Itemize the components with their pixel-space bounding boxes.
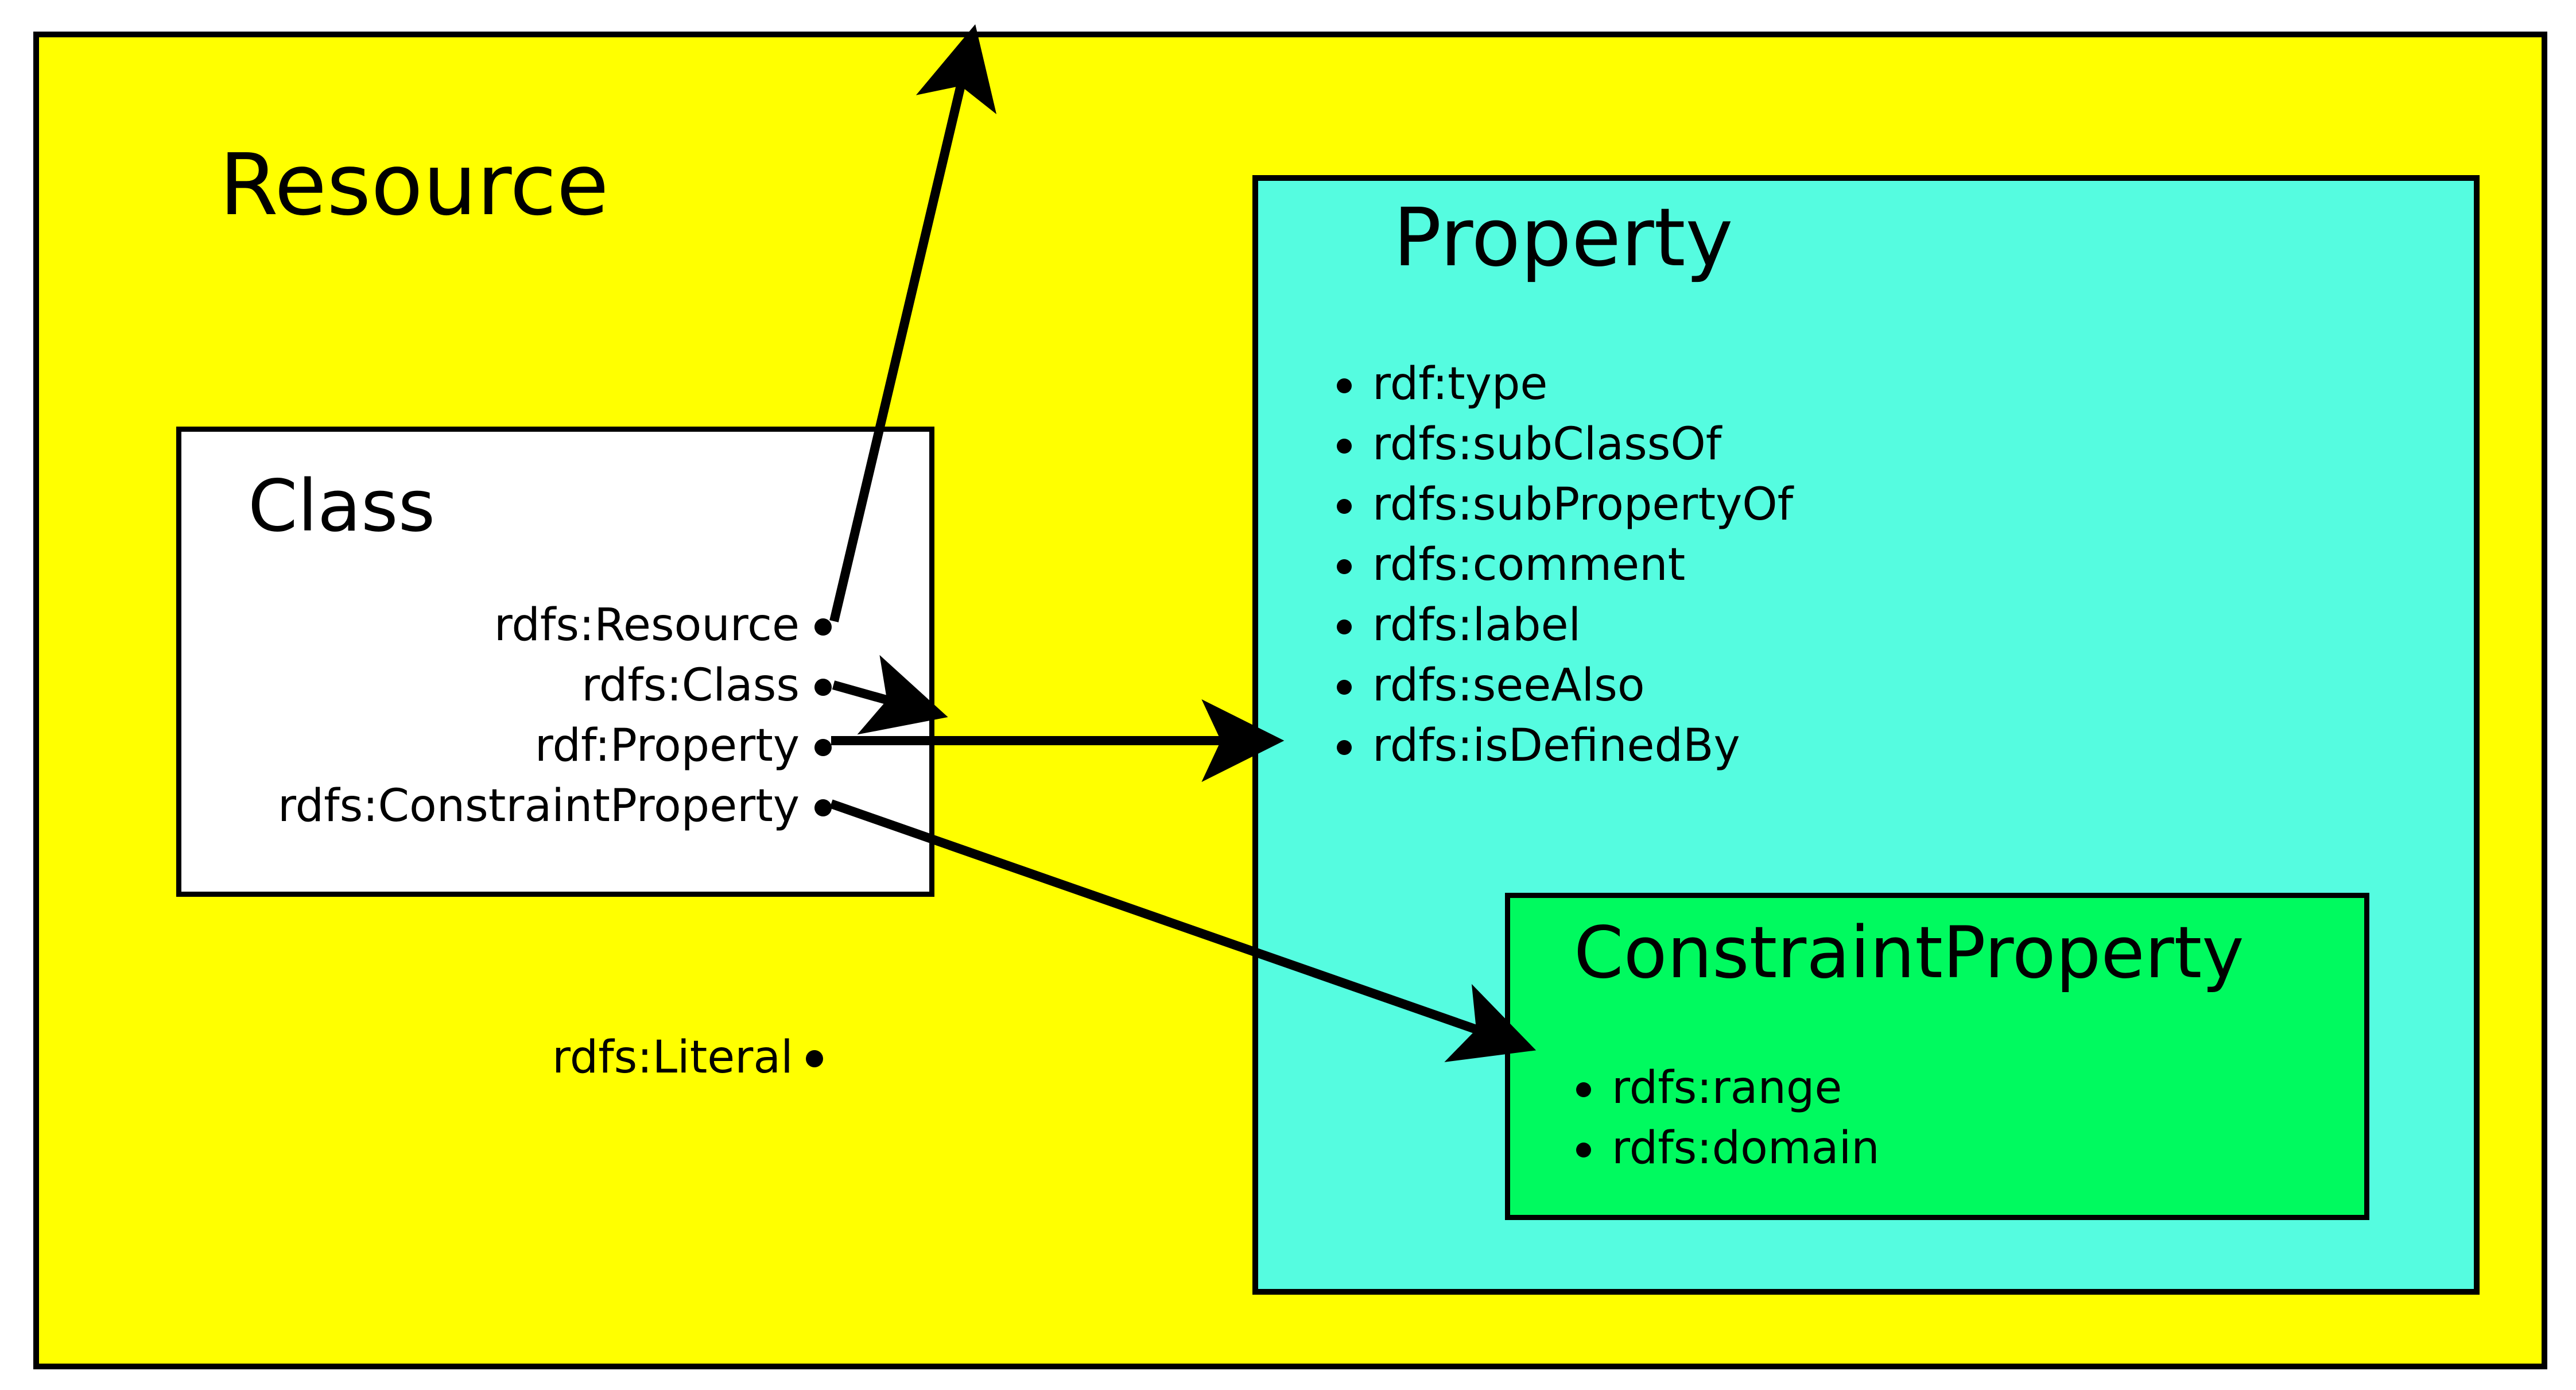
property-item-label: rdfs:seeAlso: [1372, 660, 1645, 711]
property-item-label: rdfs:subPropertyOf: [1372, 479, 1793, 531]
bullet-icon: [1337, 378, 1352, 393]
constraint-property-member-list: rdfs:range rdfs:domain: [1574, 1058, 1880, 1179]
connector-dot-icon: [814, 739, 832, 756]
property-item-label: rdfs:subClassOf: [1372, 419, 1721, 470]
list-item: rdfs:seeAlso: [1334, 656, 1793, 716]
connector-dot-icon: [814, 799, 832, 816]
class-item-label: rdfs:Class: [581, 660, 800, 711]
property-item-label: rdfs:isDefinedBy: [1372, 720, 1740, 772]
bullet-icon: [1337, 680, 1352, 695]
list-item: rdfs:isDefinedBy: [1334, 716, 1793, 776]
list-item: rdfs:subPropertyOf: [1334, 475, 1793, 535]
list-item: rdfs:subClassOf: [1334, 415, 1793, 475]
class-item-label: rdfs:ConstraintProperty: [278, 780, 800, 832]
property-box-title: Property: [1393, 198, 1733, 278]
class-item-label: rdfs:Resource: [494, 599, 800, 651]
connector-dot-icon: [814, 679, 832, 696]
resource-box-title: Resource: [219, 142, 609, 227]
list-item: rdfs:label: [1334, 595, 1793, 656]
bullet-icon: [1337, 620, 1352, 634]
property-item-label: rdfs:label: [1372, 599, 1581, 651]
list-item: rdfs:Class: [218, 656, 835, 716]
literal-label-text: rdfs:Literal: [552, 1032, 793, 1083]
property-member-list: rdf:type rdfs:subClassOf rdfs:subPropert…: [1334, 354, 1793, 776]
diagram-canvas: Resource Class Property ConstraintProper…: [0, 0, 2576, 1390]
bullet-icon: [1337, 439, 1352, 454]
list-item: rdf:Property: [218, 716, 835, 776]
list-item: rdfs:comment: [1334, 535, 1793, 595]
bullet-icon: [1576, 1082, 1591, 1097]
class-item-label: rdf:Property: [535, 720, 800, 772]
list-item: rdfs:range: [1574, 1058, 1880, 1118]
bullet-icon: [1337, 499, 1352, 514]
property-item-label: rdfs:comment: [1372, 539, 1685, 591]
connector-dot-icon: [814, 618, 832, 636]
constraint-item-label: rdfs:domain: [1612, 1122, 1880, 1174]
bullet-icon: [1576, 1143, 1591, 1157]
rdfs-literal-label: rdfs:Literal: [552, 1028, 823, 1088]
bullet-icon: [1337, 740, 1352, 755]
constraint-property-box-title: ConstraintProperty: [1574, 917, 2244, 989]
connector-dot-icon: [806, 1050, 823, 1067]
list-item: rdfs:Resource: [218, 595, 835, 656]
bullet-icon: [1337, 559, 1352, 574]
constraint-item-label: rdfs:range: [1612, 1062, 1842, 1114]
list-item: rdfs:domain: [1574, 1118, 1880, 1179]
list-item: rdf:type: [1334, 354, 1793, 415]
class-member-list: rdfs:Resource rdfs:Class rdf:Property rd…: [218, 595, 835, 837]
class-box-title: Class: [248, 471, 435, 542]
property-item-label: rdf:type: [1372, 358, 1547, 410]
list-item: rdfs:ConstraintProperty: [218, 776, 835, 837]
